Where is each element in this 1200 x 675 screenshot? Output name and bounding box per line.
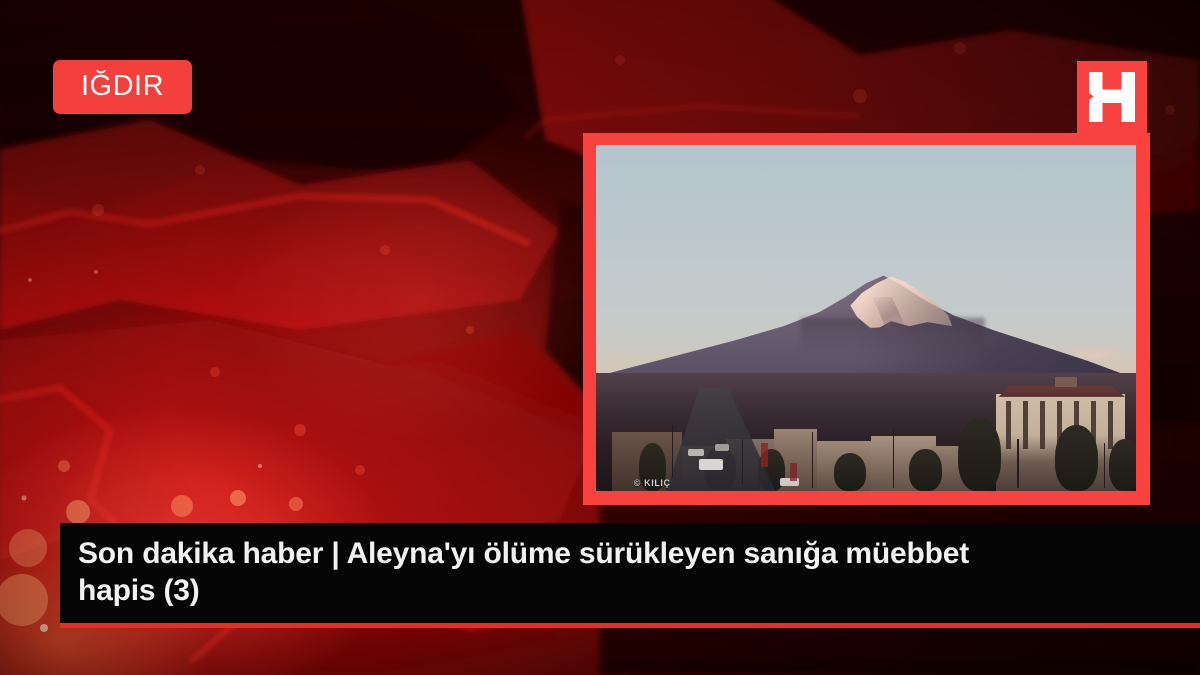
photo-tree (909, 449, 941, 491)
photo-frame: © KILIÇ (583, 133, 1150, 505)
photo-street-pole (672, 425, 673, 477)
photo-apartment-roof (990, 386, 1130, 397)
photo-street-pole (742, 439, 743, 484)
brand-h-logo[interactable] (1077, 61, 1147, 133)
photo-vehicle (699, 459, 723, 470)
photo-watermark: © KILIÇ (634, 478, 671, 488)
photo-street-banner (761, 443, 769, 467)
headline-bar: Son dakika haber | Aleyna'yı ölüme sürük… (60, 523, 1200, 623)
photo-street-pole (893, 429, 894, 488)
photo-apartment-chimney (1055, 377, 1077, 387)
photo-vehicle (715, 444, 729, 451)
brand-letter-h-icon (1089, 72, 1135, 122)
news-card: IĞDIR (0, 0, 1200, 675)
news-photo: © KILIÇ (596, 145, 1136, 491)
photo-tree (834, 453, 866, 491)
photo-tree (958, 418, 1001, 491)
photo-street-pole (812, 432, 813, 487)
photo-vehicle (688, 449, 704, 457)
headline-text: Son dakika haber | Aleyna'yı ölüme sürük… (60, 536, 1070, 609)
photo-street-pole (1104, 443, 1105, 488)
photo-tree (1109, 439, 1136, 491)
city-badge: IĞDIR (53, 60, 192, 114)
photo-street-pole (1017, 439, 1018, 487)
photo-tree (1055, 425, 1098, 491)
city-badge-label: IĞDIR (81, 72, 164, 103)
photo-street-banner (790, 463, 796, 480)
headline-accent-rule (60, 623, 1200, 628)
